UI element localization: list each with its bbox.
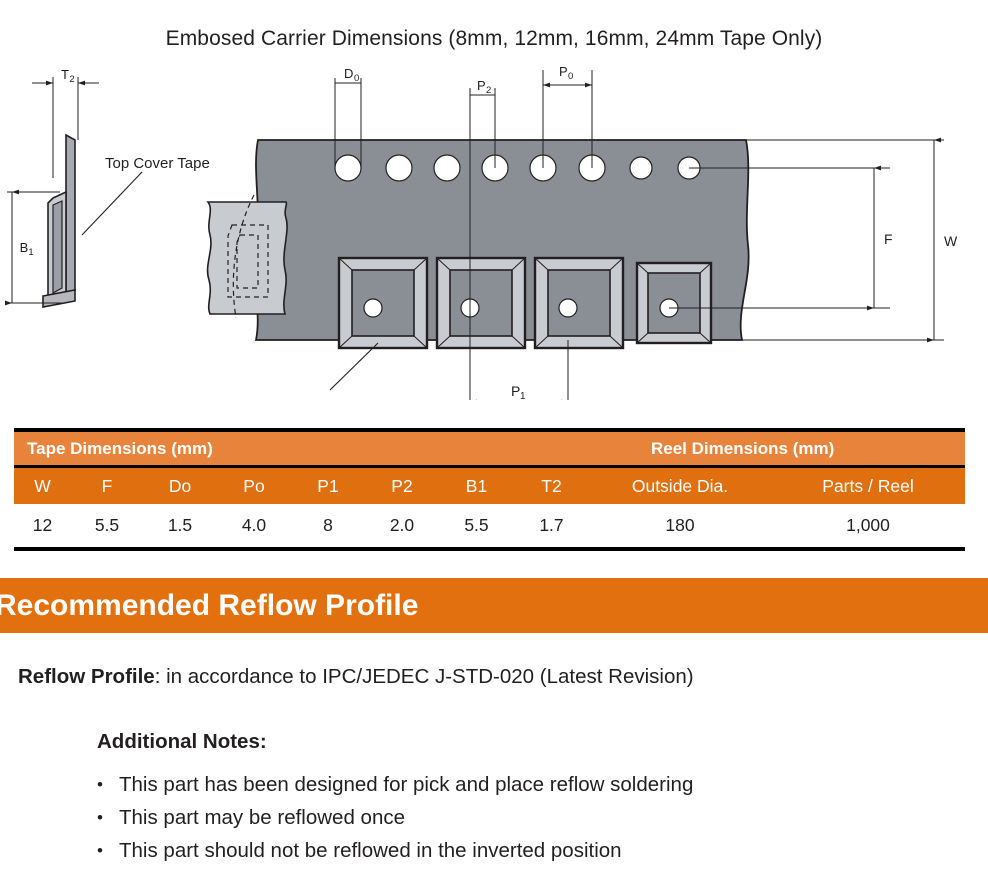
dimensions-table: Tape Dimensions (mm) Reel Dimensions (mm… (14, 428, 965, 551)
cell-t2: 1.7 (514, 515, 589, 536)
cell-parts-per-reel: 1,000 (771, 515, 965, 536)
cell-do: 1.5 (143, 515, 217, 536)
column-header-t2: T2 (514, 476, 589, 497)
annotation-top-cover-tape: Top Cover Tape (82, 155, 210, 235)
label-w: W (944, 233, 958, 249)
cover-tape-piece (208, 195, 287, 318)
list-item-label: This part may be reflowed once (119, 801, 405, 834)
label-p1: P (511, 383, 520, 399)
column-header-po: Po (217, 476, 291, 497)
cell-outside-dia: 180 (589, 515, 771, 536)
annotation-embossment: Embossment (250, 343, 378, 400)
reflow-profile-text: : in accordance to IPC/JEDEC J-STD-020 (… (155, 665, 694, 688)
cell-p1: 8 (291, 515, 365, 536)
svg-text:1: 1 (520, 391, 526, 400)
svg-text:1: 1 (28, 247, 33, 258)
column-header-f: F (71, 476, 143, 497)
svg-text:0: 0 (354, 73, 359, 84)
group-header-reel: Reel Dimensions (mm) (651, 439, 834, 459)
cell-f: 5.5 (71, 515, 143, 536)
label-b1: B (20, 240, 29, 255)
label-t2: T (61, 67, 69, 82)
list-item: • This part may be reflowed once (97, 801, 957, 834)
list-item: • This part should not be reflowed in th… (97, 834, 957, 867)
list-item-label: This part has been designed for pick and… (119, 768, 693, 801)
cell-w: 12 (14, 515, 71, 536)
dimension-f: F (874, 168, 893, 308)
label-embossment: Embossment (250, 399, 338, 400)
embossed-pockets (339, 258, 711, 348)
table-bottom-rule (14, 547, 965, 551)
additional-notes-heading: Additional Notes: (97, 730, 267, 754)
bullet-icon: • (97, 768, 119, 801)
svg-text:0: 0 (568, 71, 573, 82)
list-item: • This part has been designed for pick a… (97, 768, 957, 801)
cell-b1: 5.5 (439, 515, 514, 536)
cross-section-view: T 2 B 1 Top Cover Tape (7, 67, 210, 307)
list-item-label: This part should not be reflowed in the … (119, 834, 622, 867)
group-header-tape: Tape Dimensions (mm) (27, 439, 213, 459)
column-header-parts-per-reel: Parts / Reel (771, 476, 965, 497)
svg-text:2: 2 (69, 74, 74, 85)
label-p2: P (477, 78, 486, 93)
reflow-profile-line: Reflow Profile: in accordance to IPC/JED… (18, 665, 694, 689)
bullet-icon: • (97, 834, 119, 867)
column-header-b1: B1 (439, 476, 514, 497)
cell-p2: 2.0 (365, 515, 439, 536)
column-header-outside-dia: Outside Dia. (589, 476, 771, 497)
column-header-w: W (14, 476, 71, 497)
carrier-tape-diagram: T 2 B 1 Top Cover Tape (0, 60, 988, 400)
reflow-profile-label: Reflow Profile (18, 665, 155, 688)
section-banner: Recommended Reflow Profile (0, 578, 988, 633)
pocket (535, 258, 623, 348)
pocket (637, 263, 711, 343)
pocket (339, 258, 427, 348)
additional-notes-list: • This part has been designed for pick a… (97, 768, 957, 867)
column-header-p1: P1 (291, 476, 365, 497)
label-top-cover-tape: Top Cover Tape (105, 155, 210, 172)
table-column-header-row: W F Do Po P1 P2 B1 T2 Outside Dia. Parts… (14, 468, 965, 504)
tape-plan-view: D 0 P 2 P 0 Embossment P (208, 64, 958, 400)
dimension-w: W (934, 140, 958, 340)
label-f: F (884, 231, 893, 247)
pocket (437, 258, 525, 348)
table-row: 12 5.5 1.5 4.0 8 2.0 5.5 1.7 180 1,000 (14, 504, 965, 547)
svg-text:2: 2 (486, 85, 491, 96)
table-group-header-row: Tape Dimensions (mm) Reel Dimensions (mm… (14, 432, 965, 465)
label-d0: D (344, 66, 353, 81)
column-header-p2: P2 (365, 476, 439, 497)
diagram-title: Embosed Carrier Dimensions (8mm, 12mm, 1… (0, 27, 988, 51)
label-p0: P (559, 64, 568, 79)
column-header-do: Do (143, 476, 217, 497)
bullet-icon: • (97, 801, 119, 834)
cell-po: 4.0 (217, 515, 291, 536)
section-banner-title: Recommended Reflow Profile (0, 589, 418, 623)
